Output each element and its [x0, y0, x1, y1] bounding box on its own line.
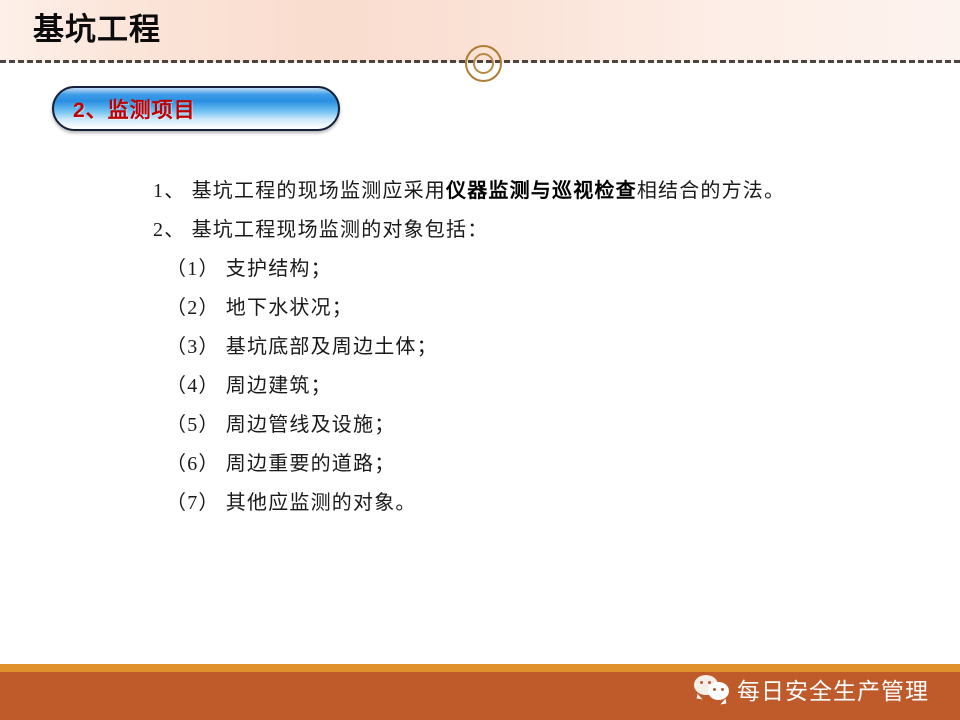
list-item: （4） 周边建筑；: [0, 367, 960, 406]
footer-accent-strip: [0, 664, 960, 672]
body-line-1-prefix: 1、 基坑工程的现场监测应采用: [153, 180, 446, 202]
footer-brand: 每日安全生产管理: [694, 672, 929, 706]
double-circle-ornament-icon: [465, 45, 502, 82]
wechat-dot: [721, 688, 724, 691]
wechat-icon: [694, 675, 732, 703]
body-line-1-emphasis: 仪器监测与巡视检查: [446, 180, 637, 202]
body-line-1: 1、 基坑工程的现场监测应采用仪器监测与巡视检查相结合的方法。: [0, 172, 960, 211]
section-heading-label: 2、监测项目: [73, 94, 196, 124]
wechat-dot: [713, 688, 716, 691]
wechat-dot: [700, 681, 703, 684]
list-item: （3） 基坑底部及周边土体；: [0, 328, 960, 367]
page-title: 基坑工程: [33, 8, 161, 52]
body-line-2: 2、 基坑工程现场监测的对象包括：: [0, 211, 960, 250]
list-item: （2） 地下水状况；: [0, 289, 960, 328]
footer-brand-label: 每日安全生产管理: [737, 672, 929, 706]
section-heading-pill: 2、监测项目: [52, 86, 340, 131]
slide-body: 1、 基坑工程的现场监测应采用仪器监测与巡视检查相结合的方法。 2、 基坑工程现…: [0, 172, 960, 523]
list-item: （5） 周边管线及设施；: [0, 406, 960, 445]
list-item: （1） 支护结构；: [0, 250, 960, 289]
wechat-bubble-small: [708, 682, 729, 700]
body-line-1-suffix: 相结合的方法。: [637, 180, 785, 202]
wechat-dot: [708, 681, 711, 684]
list-item: （6） 周边重要的道路；: [0, 445, 960, 484]
ring-inner: [473, 53, 494, 74]
list-item: （7） 其他应监测的对象。: [0, 484, 960, 523]
